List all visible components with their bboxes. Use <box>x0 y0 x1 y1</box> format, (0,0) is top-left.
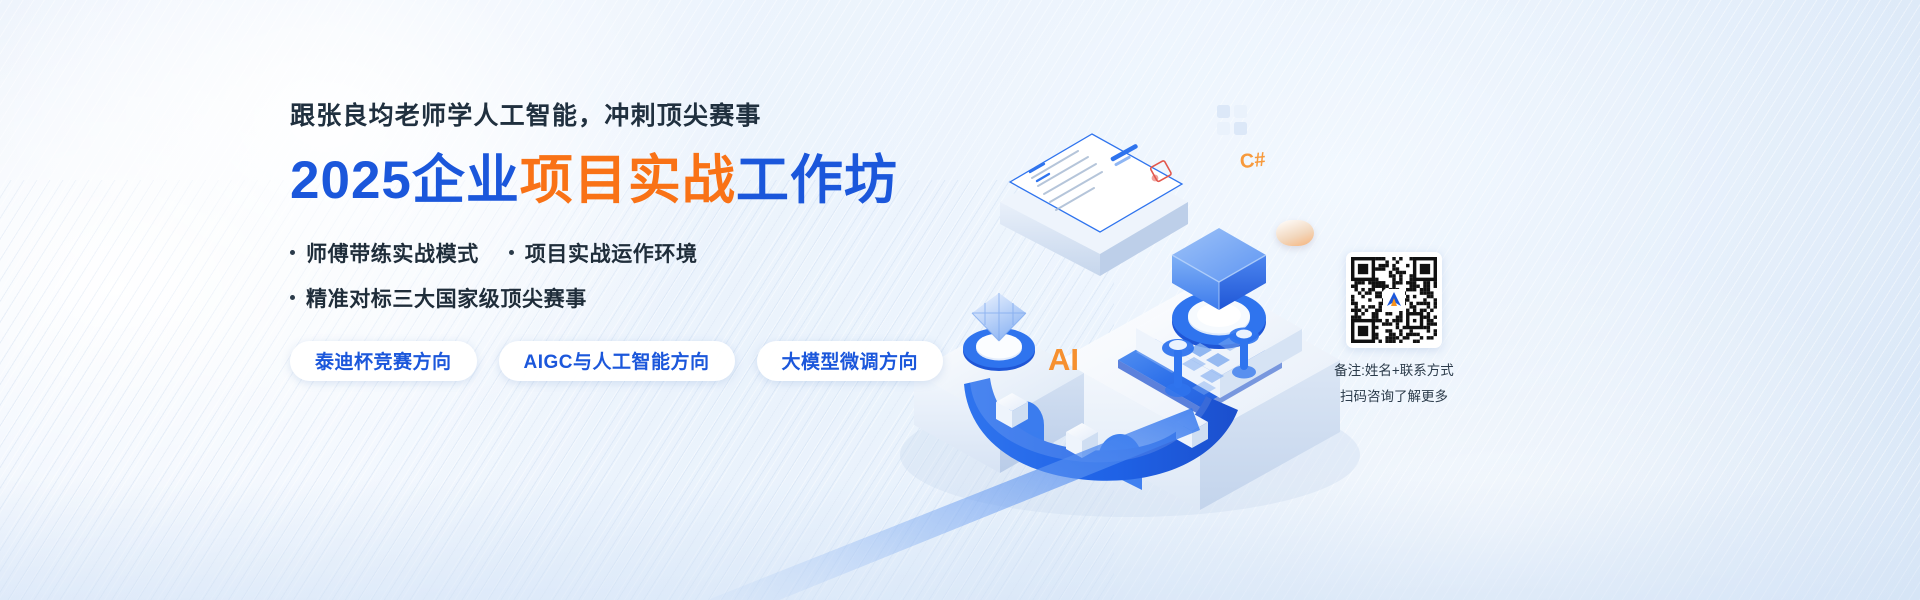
bullet-item: 师傅带练实战模式 <box>290 238 479 268</box>
bullet-item: 项目实战运作环境 <box>509 238 698 268</box>
iso-path-vanishing <box>580 400 1200 600</box>
qr-code-frame[interactable] <box>1346 252 1442 348</box>
decoration-csharp-label: C# <box>1239 149 1267 175</box>
qr-contact-block: 备注:姓名+联系方式 扫码咨询了解更多 <box>1313 252 1475 409</box>
banner-copy-block: 跟张良均老师学人工智能，冲刺顶尖赛事 2025企业项目实战工作坊 师傅带练实战模… <box>290 96 930 381</box>
banner-subtitle: 跟张良均老师学人工智能，冲刺顶尖赛事 <box>290 96 930 132</box>
bullet-label: 项目实战运作环境 <box>525 238 698 268</box>
bullet-dot-icon <box>290 295 295 300</box>
brand-logo-icon <box>1385 291 1403 309</box>
banner-headline: 2025企业项目实战工作坊 <box>290 153 930 209</box>
headline-segment-blue-2: 工作坊 <box>736 151 898 210</box>
decoration-cross-icon <box>1215 103 1249 137</box>
qr-caption-line-1: 备注:姓名+联系方式 <box>1313 358 1475 384</box>
feature-bullet-list: 师傅带练实战模式 项目实战运作环境 精准对标三大国家级顶尖赛事 <box>290 238 930 313</box>
qr-caption-line-2: 扫码咨询了解更多 <box>1313 384 1475 410</box>
headline-segment-blue-1: 2025企业 <box>290 151 520 210</box>
bullet-row: 师傅带练实战模式 项目实战运作环境 <box>290 238 930 268</box>
qr-center-logo <box>1383 289 1405 311</box>
iso-pipe-connectors <box>1148 326 1288 456</box>
pill-taidi-competition[interactable]: 泰迪杯竞赛方向 <box>290 341 477 381</box>
pill-aigc-ai[interactable]: AIGC与人工智能方向 <box>499 341 735 381</box>
decoration-capsule-shape <box>1276 220 1314 246</box>
bullet-label: 师傅带练实战模式 <box>306 238 479 268</box>
headline-segment-orange: 项目实战 <box>520 151 736 210</box>
promo-banner: AI C# <box>0 0 1920 600</box>
qr-caption: 备注:姓名+联系方式 扫码咨询了解更多 <box>1313 358 1475 409</box>
bullet-dot-icon <box>290 250 295 255</box>
bullet-label: 精准对标三大国家级顶尖赛事 <box>306 283 587 313</box>
bullet-row: 精准对标三大国家级顶尖赛事 <box>290 283 930 313</box>
bullet-dot-icon <box>509 250 514 255</box>
topic-pill-group: 泰迪杯竞赛方向 AIGC与人工智能方向 大模型微调方向 <box>290 341 930 381</box>
pill-llm-finetune[interactable]: 大模型微调方向 <box>757 341 944 381</box>
bullet-item: 精准对标三大国家级顶尖赛事 <box>290 283 587 313</box>
